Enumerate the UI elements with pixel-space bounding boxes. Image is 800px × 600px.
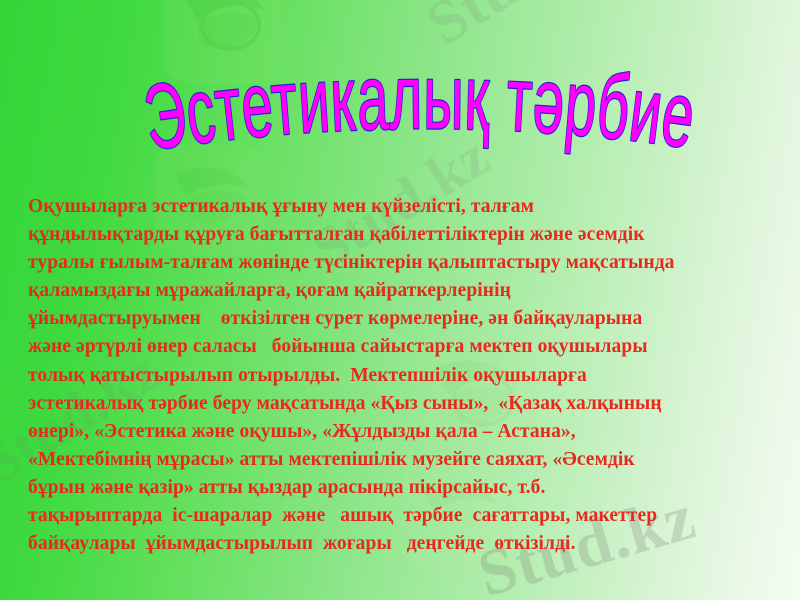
- title-wordart-svg: Эстетикалық тәрбие: [0, 38, 800, 163]
- title-text: Эстетикалық тәрбие: [138, 46, 701, 163]
- slide-title: Эстетикалық тәрбие: [0, 38, 800, 163]
- body-text-line: байқаулары ұйымдастырылып жоғары деңгейд…: [28, 530, 780, 558]
- body-text-line: Оқушыларға эстетикалық ұғыну мен күйзелі…: [28, 193, 780, 221]
- body-text-line: бұрын және қазір» атты қыздар арасында п…: [28, 474, 780, 502]
- body-text-line: және әртүрлі өнер саласы бойынша сайыста…: [28, 333, 780, 361]
- slide-body-text: Оқушыларға эстетикалық ұғыну мен күйзелі…: [28, 193, 780, 558]
- body-text-line: тақырыптарда іс-шаралар және ашық тәрбие…: [28, 502, 780, 530]
- body-text-line: өнері», «Эстетика және оқушы», «Жұлдызды…: [28, 418, 780, 446]
- body-text-line: эстетикалық тәрбие беру мақсатында «Қыз …: [28, 390, 780, 418]
- background-logo-watermark: [158, 0, 288, 88]
- presentation-slide: Stud.kz Stud.kz Stud.kz Stud.kz Эстетика…: [0, 0, 800, 600]
- body-text-line: туралы ғылым-талғам жөнінде түсініктерін…: [28, 249, 780, 277]
- body-text-line: ұйымдастыруымен өткізілген сурет көрмеле…: [28, 305, 780, 333]
- body-text-line: құндылықтарды құруға бағытталған қабілет…: [28, 221, 780, 249]
- watermark-stud-kz: Stud.kz: [415, 0, 630, 60]
- body-text-line: қаламыздағы мұражайларға, қоғам қайратке…: [28, 277, 780, 305]
- body-text-line: толық қатыстырылып отырылды. Мектепшілік…: [28, 362, 780, 390]
- body-text-line: «Мектебімнің мұрасы» атты мектепішілік м…: [28, 446, 780, 474]
